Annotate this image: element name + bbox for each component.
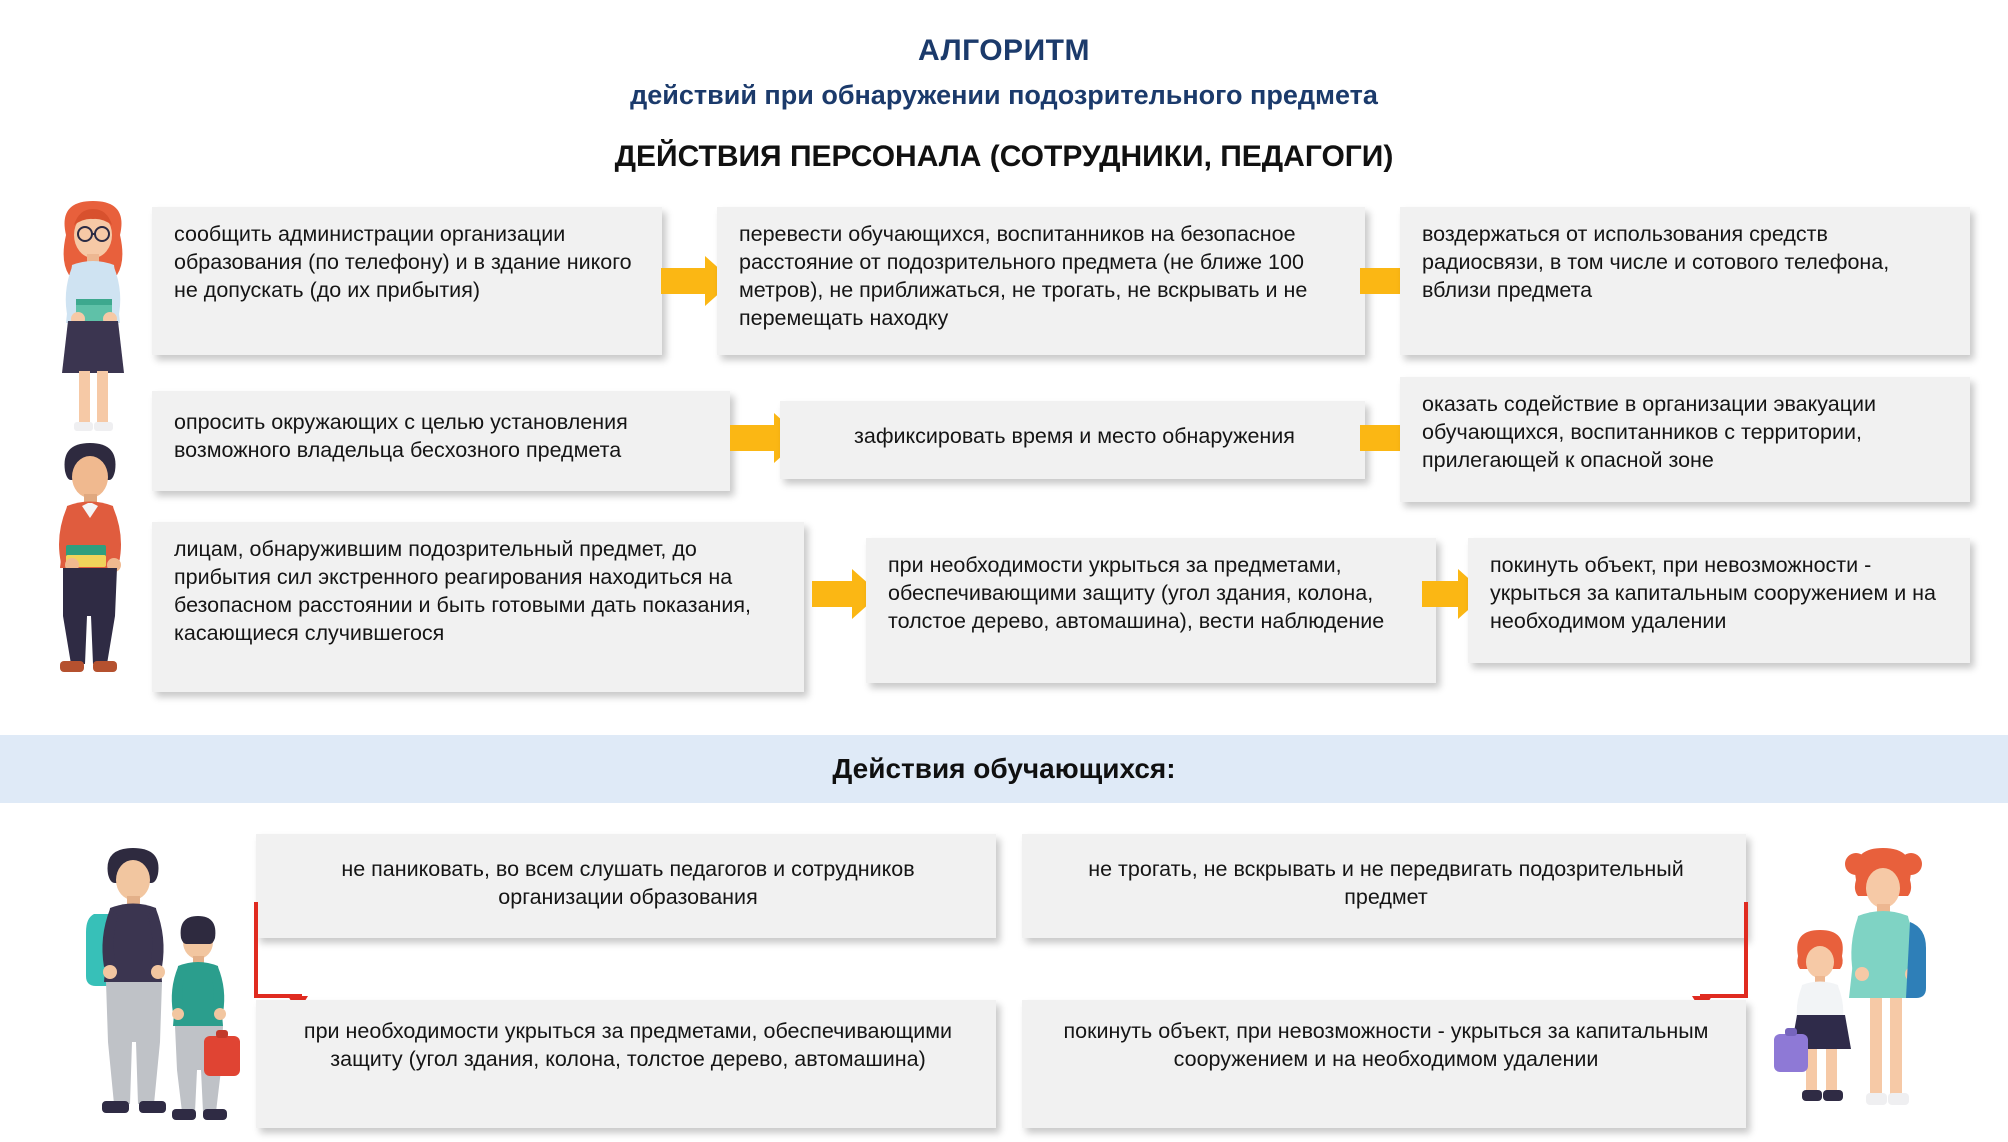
staff-box-r1c3: воздержаться от использования средств ра… (1400, 207, 1970, 355)
staff-box-r3c2-text: при необходимости укрыться за предметами… (888, 552, 1418, 636)
staff-box-r3c3-text: покинуть объект, при невозможности - укр… (1490, 552, 1952, 636)
staff-box-r1c1-text: сообщить администрации организации образ… (174, 221, 644, 305)
staff-box-r2c2-text: зафиксировать время и место обнаружения (802, 423, 1347, 451)
student-box-3-text: при необходимости укрыться за предметами… (278, 1018, 978, 1074)
staff-box-r2c3: оказать содействие в организации эвакуац… (1400, 377, 1970, 502)
staff-box-r2c3-text: оказать содействие в организации эвакуац… (1422, 391, 1952, 475)
students-banner-label: Действия обучающихся: (832, 753, 1175, 785)
student-box-2: не трогать, не вскрывать и не передвигат… (1022, 834, 1746, 938)
staff-box-r1c2-text: перевести обучающихся, воспитанников на … (739, 221, 1347, 333)
staff-box-r1c1: сообщить администрации организации образ… (152, 207, 662, 355)
infographic-canvas: АЛГОРИТМ действий при обнаружении подозр… (0, 0, 2008, 1142)
student-box-1-text: не паниковать, во всем слушать педагогов… (278, 856, 978, 912)
student-box-4: покинуть объект, при невозможности - укр… (1022, 1000, 1746, 1128)
page-subtitle: действий при обнаружении подозрительного… (0, 80, 2008, 111)
connector-right-vertical (1744, 902, 1748, 998)
staff-box-r1c2: перевести обучающихся, воспитанников на … (717, 207, 1365, 355)
staff-box-r1c3-text: воздержаться от использования средств ра… (1422, 221, 1952, 305)
male-teacher-illustration (30, 435, 145, 685)
staff-box-r2c2: зафиксировать время и место обнаружения (780, 401, 1365, 479)
section-title-staff: ДЕЙСТВИЯ ПЕРСОНАЛА (СОТРУДНИКИ, ПЕДАГОГИ… (0, 140, 2008, 174)
page-title: АЛГОРИТМ (0, 34, 2008, 68)
staff-box-r3c2: при необходимости укрыться за предметами… (866, 538, 1436, 683)
students-section-banner: Действия обучающихся: (0, 735, 2008, 803)
girl-students-illustration (1770, 838, 1950, 1138)
connector-left-vertical (254, 902, 258, 998)
staff-box-r2c1-text: опросить окружающих с целью установления… (174, 409, 712, 465)
boy-students-illustration (70, 838, 240, 1138)
female-teacher-illustration (38, 195, 148, 445)
staff-box-r3c3: покинуть объект, при невозможности - укр… (1468, 538, 1970, 663)
student-box-1: не паниковать, во всем слушать педагогов… (256, 834, 996, 938)
student-box-3: при необходимости укрыться за предметами… (256, 1000, 996, 1128)
staff-box-r2c1: опросить окружающих с целью установления… (152, 391, 730, 491)
student-box-4-text: покинуть объект, при невозможности - укр… (1044, 1018, 1728, 1074)
staff-box-r3c1: лицам, обнаружившим подозрительный предм… (152, 522, 804, 692)
student-box-2-text: не трогать, не вскрывать и не передвигат… (1044, 856, 1728, 912)
staff-box-r3c1-text: лицам, обнаружившим подозрительный предм… (174, 536, 786, 648)
